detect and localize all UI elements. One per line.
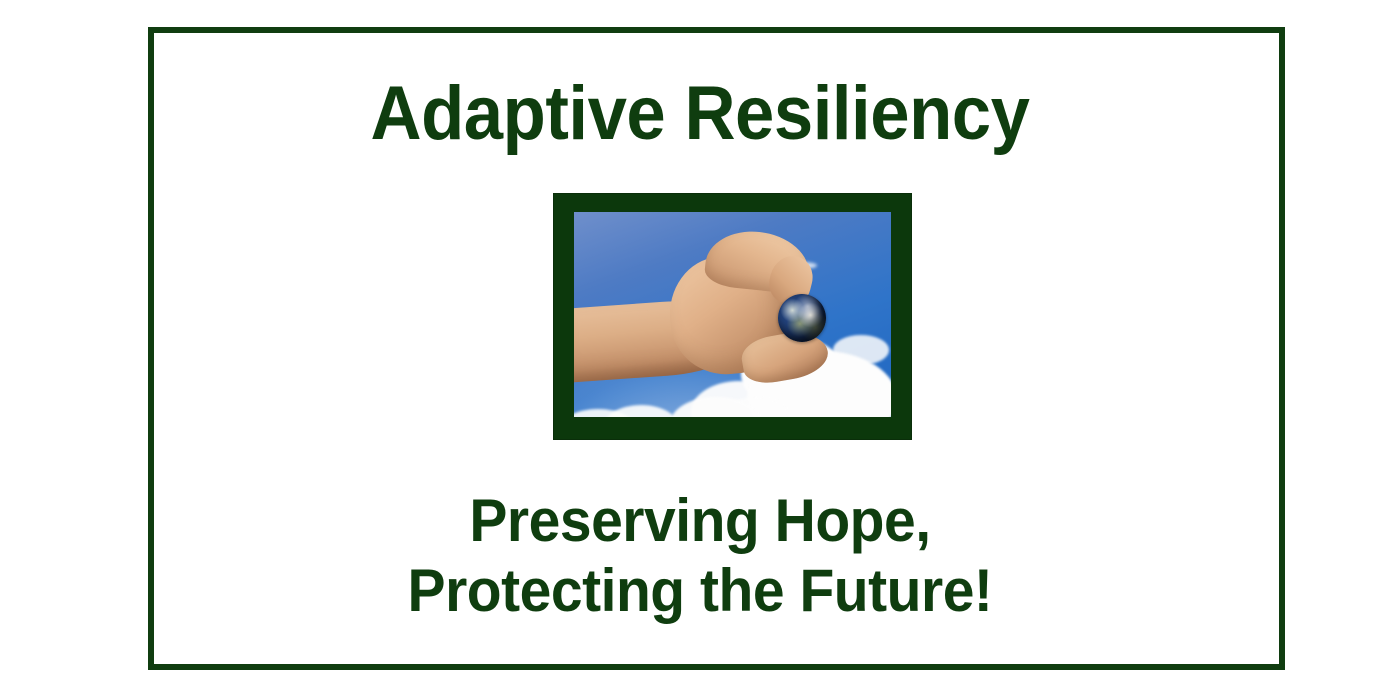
tagline: Preserving Hope, Protecting the Future! <box>35 486 1365 626</box>
photo-frame <box>553 193 912 440</box>
slide-content: Adaptive Resiliency <box>0 0 1400 700</box>
tagline-line-2: Protecting the Future! <box>35 556 1365 626</box>
slide-canvas: Adaptive Resiliency <box>0 0 1400 700</box>
earth-globe-icon <box>778 294 826 342</box>
earth-in-hand-image <box>574 212 891 417</box>
page-title: Adaptive Resiliency <box>49 72 1351 156</box>
tagline-line-1: Preserving Hope, <box>35 486 1365 556</box>
